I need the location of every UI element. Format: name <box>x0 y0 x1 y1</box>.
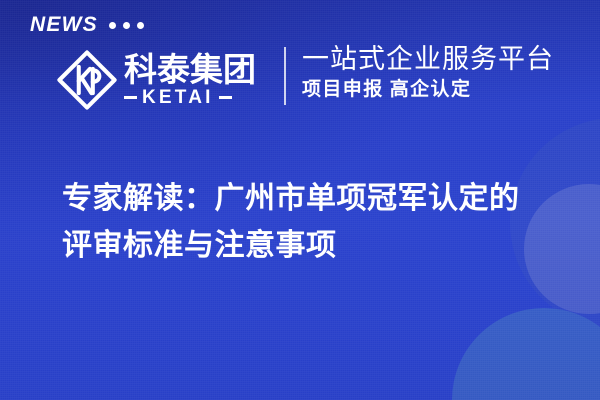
headline-line-1: 专家解读：广州市单项冠军认定的 <box>62 175 554 222</box>
eyebrow-label: NEWS <box>30 14 98 35</box>
headline: 专家解读：广州市单项冠军认定的 评审标准与注意事项 <box>62 175 554 269</box>
ketai-diamond-kp-logo-icon <box>56 49 118 111</box>
dot-icon <box>123 22 130 29</box>
dot-icon <box>109 22 116 29</box>
dot-icon <box>137 22 144 29</box>
news-banner: NEWS 科泰集团 KETAI 一站式企业服务平台 项目申报 高 <box>0 0 600 400</box>
brand-lockup: 科泰集团 KETAI <box>56 44 256 116</box>
brand-name-en: KETAI <box>142 88 214 107</box>
tagline-main: 一站式企业服务平台 <box>302 44 554 76</box>
eyebrow: NEWS <box>30 14 144 35</box>
rule-right <box>219 96 232 99</box>
tagline-block: 一站式企业服务平台 项目申报 高企认定 <box>302 44 554 102</box>
brand-divider <box>284 47 286 105</box>
eyebrow-dots-icon <box>109 20 144 29</box>
rule-left <box>124 96 137 99</box>
brand-wordmark: 科泰集团 KETAI <box>124 53 256 108</box>
tagline-sub: 项目申报 高企认定 <box>302 79 554 102</box>
brand-name-cn: 科泰集团 <box>124 53 256 88</box>
brand-name-en-row: KETAI <box>124 88 256 107</box>
headline-line-2: 评审标准与注意事项 <box>62 222 554 269</box>
